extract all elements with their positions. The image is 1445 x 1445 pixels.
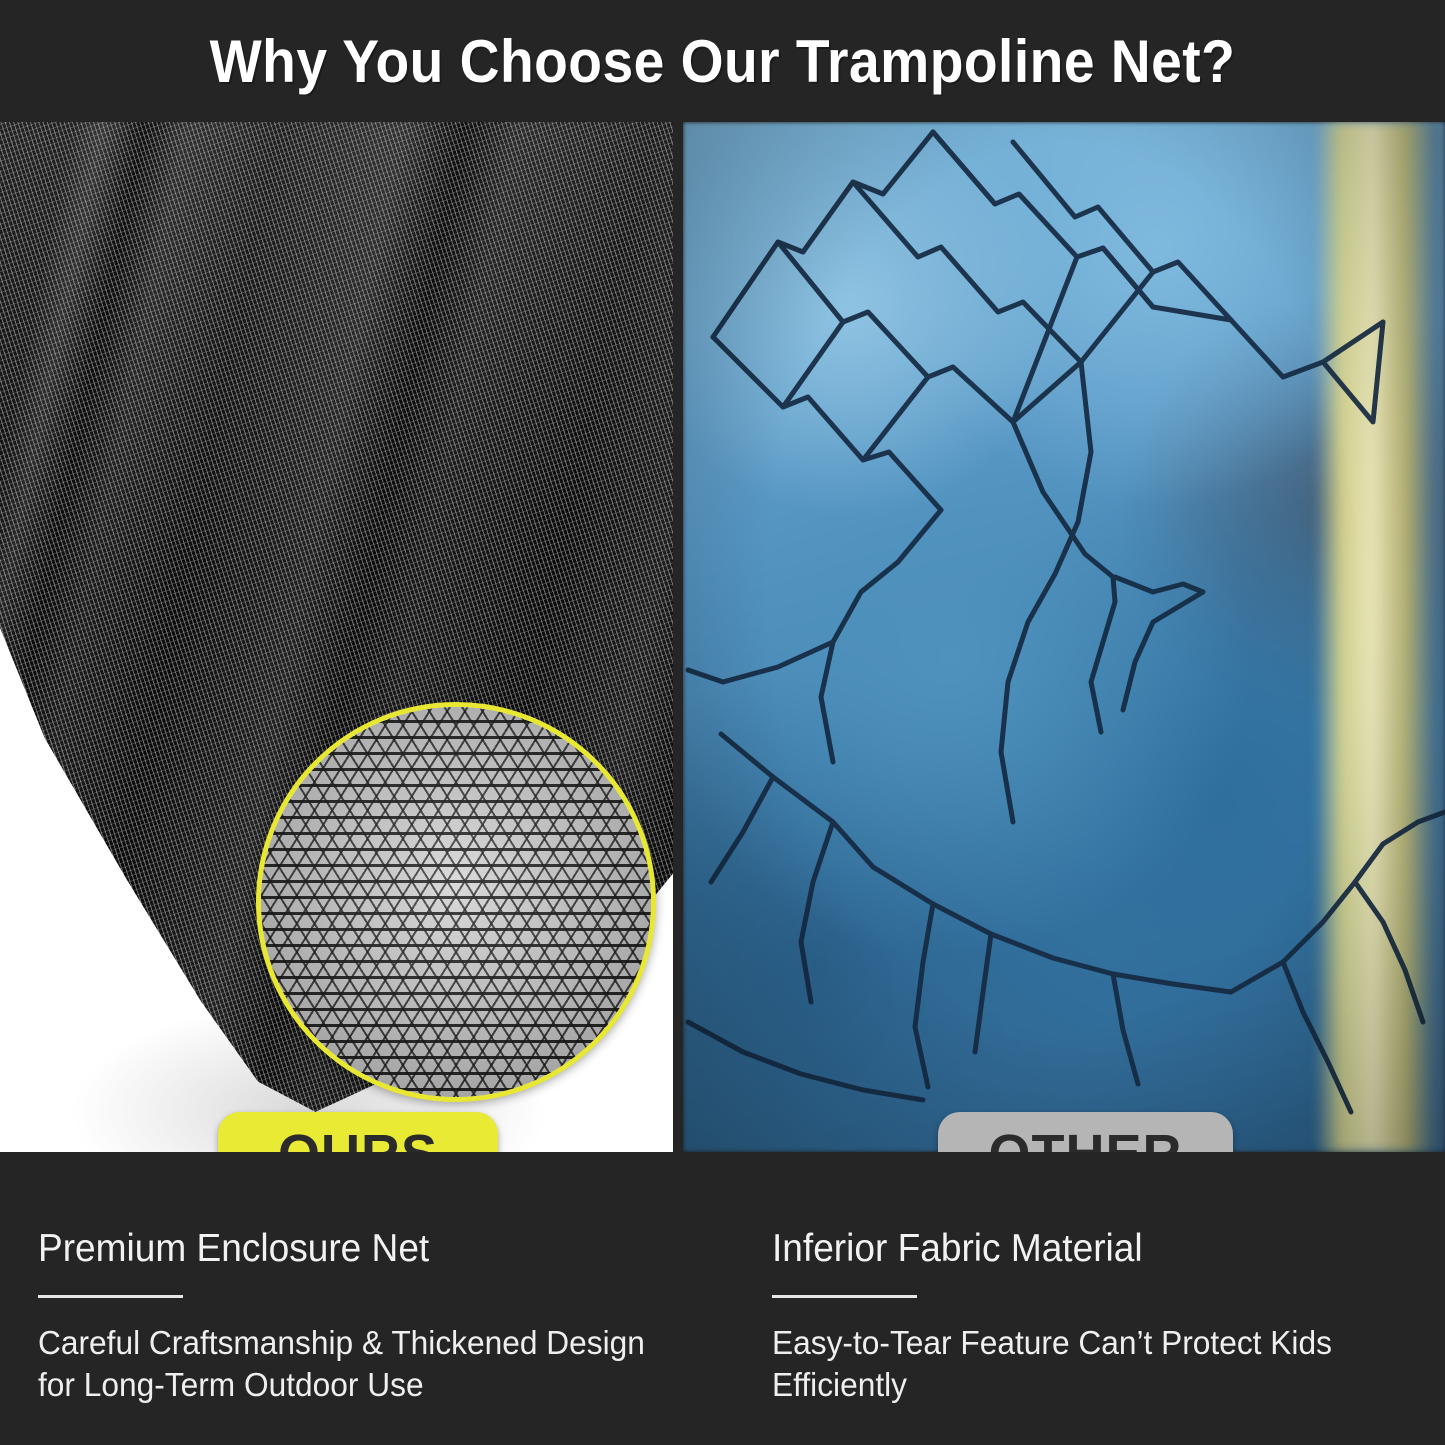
description-area: Premium Enclosure Net Careful Craftsmans… bbox=[0, 1152, 1445, 1445]
ours-description-column: Premium Enclosure Net Careful Craftsmans… bbox=[38, 1152, 698, 1406]
magnifier-shading bbox=[261, 707, 651, 1097]
ours-heading: Premium Enclosure Net bbox=[38, 1227, 665, 1271]
header-bar: Why You Choose Our Trampoline Net? bbox=[0, 0, 1445, 122]
other-divider bbox=[772, 1295, 917, 1298]
ours-product-photo bbox=[0, 122, 673, 1152]
ours-photo-panel bbox=[0, 122, 673, 1152]
other-product-photo bbox=[683, 122, 1445, 1152]
photo-vignette bbox=[683, 122, 1445, 1152]
magnifier-circle bbox=[256, 702, 656, 1102]
other-description-column: Inferior Fabric Material Easy-to-Tear Fe… bbox=[772, 1152, 1432, 1406]
other-photo-panel bbox=[683, 122, 1445, 1152]
page-title: Why You Choose Our Trampoline Net? bbox=[210, 27, 1236, 96]
ours-body-text: Careful Craftsmanship & Thickened Design… bbox=[38, 1322, 672, 1406]
ours-divider bbox=[38, 1295, 183, 1298]
comparison-photo-area bbox=[0, 122, 1445, 1152]
other-heading: Inferior Fabric Material bbox=[772, 1227, 1399, 1271]
other-body-text: Easy-to-Tear Feature Can’t Protect Kids … bbox=[772, 1322, 1406, 1406]
